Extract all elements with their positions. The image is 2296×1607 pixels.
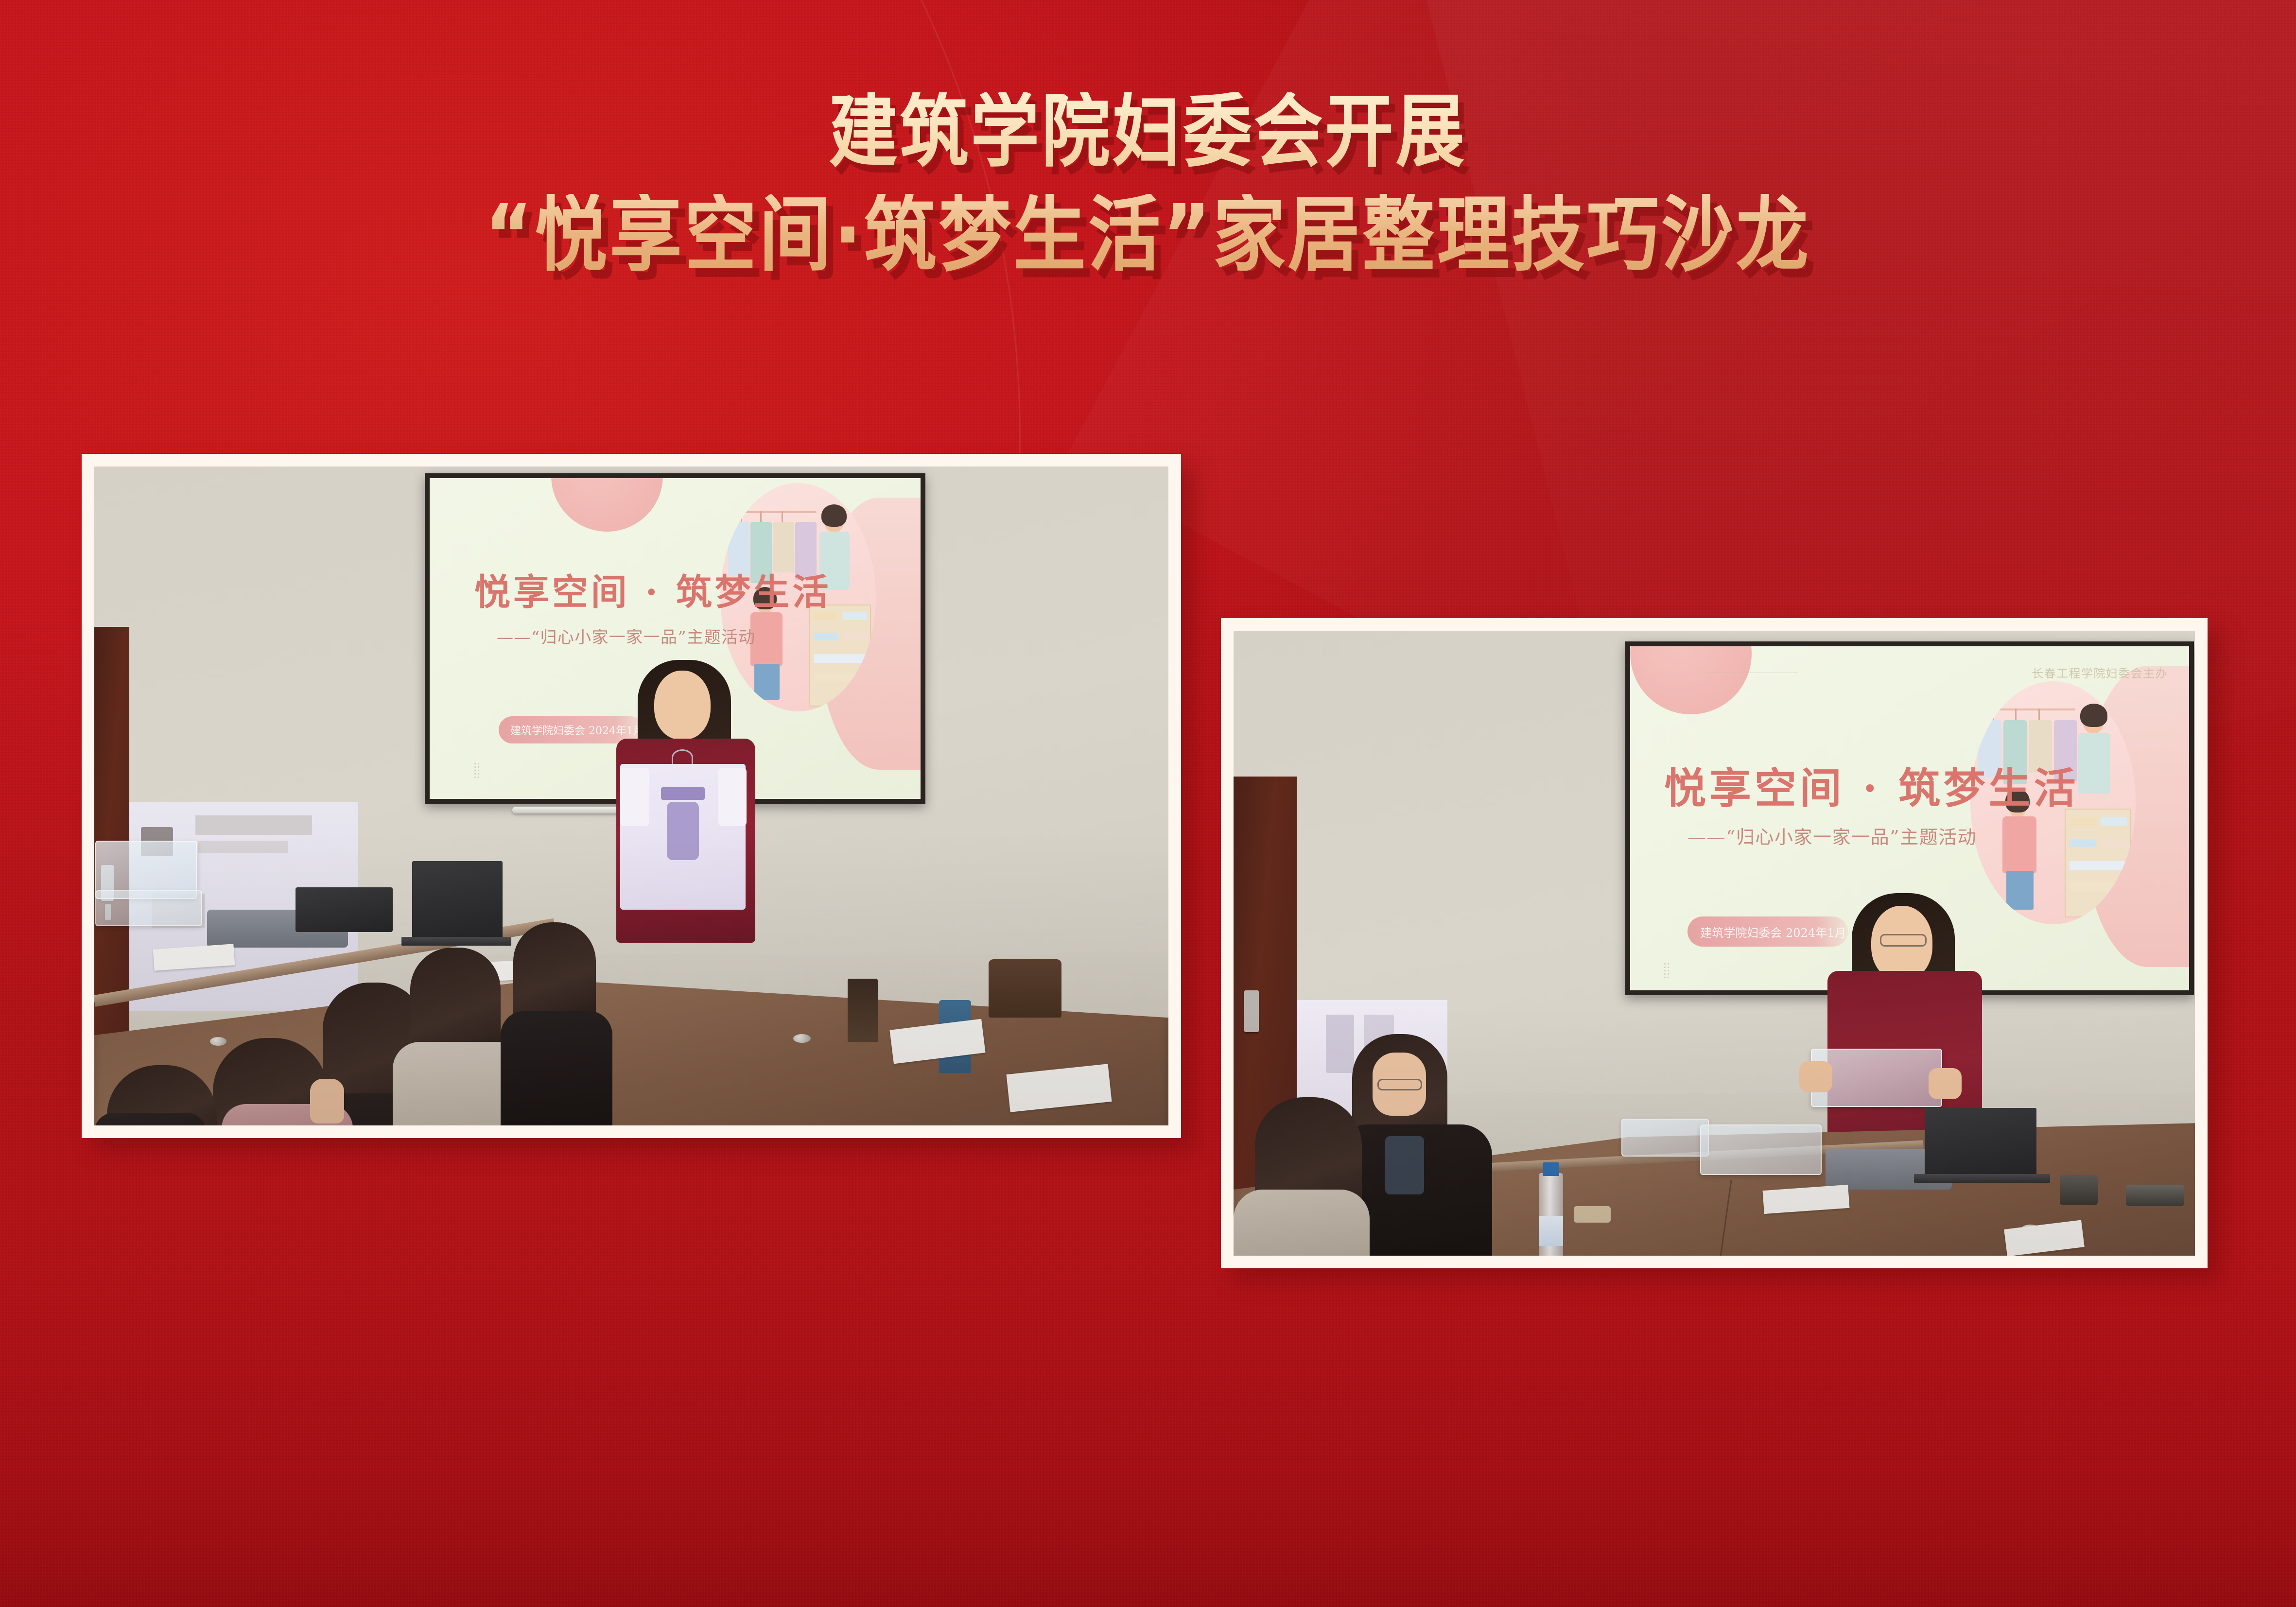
seated-woman-2-sweater (1234, 1190, 1370, 1256)
illustration-rail (729, 511, 817, 513)
small-item-table (1574, 1206, 1611, 1223)
illustration-person-rb-legs (2006, 871, 2034, 910)
illustration-hanger-r1 (1993, 708, 1994, 721)
illustration-fold-4 (843, 633, 867, 640)
slide-subtitle-right: ——“归心小家一家一品”主题活动 (1687, 822, 1977, 849)
device-block (2060, 1175, 2098, 1205)
slide-title-right: 悦享空间 · 筑梦生活 (1664, 754, 2079, 815)
illustration-fold-2 (843, 612, 867, 620)
seated-woman-1-scarf (1385, 1136, 1424, 1194)
storage-box-lower (95, 890, 202, 926)
tshirt-sleeve-left (620, 768, 649, 826)
photo-right-frame: 长春工程学院妇委会主办 (1221, 618, 2208, 1268)
photo-left-image: 悦享空间 · 筑梦生活 ——“归心小家一家一品”主题活动 建筑学院妇委会 202… (94, 467, 1168, 1125)
clear-box-1 (1621, 1119, 1709, 1157)
illustration-person-ra-hair (2080, 704, 2107, 727)
laptop-screen-right2 (1925, 1108, 2036, 1176)
slide-deco-circle (551, 478, 663, 532)
seated-woman-1-glasses (1377, 1079, 1422, 1090)
audience-person-2-hand (310, 1079, 344, 1123)
slide-host-rule (1706, 673, 1798, 673)
photo-right-image: 长春工程学院妇委会主办 (1234, 631, 2195, 1256)
illustration-hanger-r2 (2015, 708, 2017, 721)
presenter-head (654, 671, 711, 740)
illustration-person-b-legs (754, 664, 780, 700)
laptop-base-right (401, 937, 511, 946)
illustration-fold-3 (814, 633, 838, 640)
slide-host-line: 长春工程学院妇委会主办 (2032, 664, 2168, 681)
slide-badge-right-text: 建筑学院妇委会 2024年1月 (1687, 923, 1846, 940)
illustration-hanger-1 (741, 511, 742, 523)
audience-person-5-coat (501, 1011, 612, 1125)
illustration-hanger-3 (782, 511, 783, 523)
illustration-rail-r (1980, 708, 2075, 710)
poster-canvas: 建筑学院妇委会开展 “悦享空间·筑梦生活”家居整理技巧沙龙 (0, 0, 2296, 1607)
presenter-right-hand-left (1799, 1061, 1832, 1092)
board-text-1 (195, 815, 312, 835)
poster-title-line-2: “悦享空间·筑梦生活”家居整理技巧沙龙 (138, 194, 2158, 276)
water-bottle-label-right (1539, 1216, 1563, 1246)
poster-title-line-1: 建筑学院妇委会开展 (161, 92, 2136, 172)
tshirt-sleeve-right (718, 768, 747, 826)
slide-deco-circle-right (1630, 646, 1752, 714)
illustration-fold-r3 (2070, 839, 2096, 847)
illustration-person-rb-body (2002, 816, 2036, 873)
illustration-hanger-r3 (2038, 708, 2040, 721)
water-bottle-cap-right (1543, 1162, 1559, 1176)
spacer (177, 539, 178, 540)
presenter-right-glasses (1880, 934, 1927, 947)
poster-title-block: 建筑学院妇委会开展 “悦享空间·筑梦生活”家居整理技巧沙龙 (0, 92, 2296, 276)
slide-badge-right: 建筑学院妇委会 2024年1月 (1687, 916, 1848, 947)
board-text-2 (198, 841, 288, 853)
clothes-hanger (672, 749, 693, 766)
slide-badge-left-text: 建筑学院妇委会 2024年1月 (499, 722, 644, 738)
laptop-screen-right (412, 861, 503, 939)
clear-box-2 (1700, 1124, 1822, 1175)
door-handle-right (1244, 990, 1259, 1032)
illustration-person-ra-body (2078, 733, 2110, 794)
illustration-fold-r6 (2070, 882, 2127, 892)
illustration-fold-r5 (2070, 861, 2127, 870)
table-grommet-4 (793, 1034, 811, 1043)
audience-person-3-coat (94, 1113, 206, 1125)
table-stand-1 (848, 979, 878, 1042)
chair-wooden (989, 959, 1061, 1018)
presenter-right-hand-right (1929, 1068, 1962, 1099)
illustration-fold-r1 (2070, 817, 2096, 826)
laptop-open (296, 887, 393, 932)
illustration-hanger-2 (760, 511, 762, 523)
tshirt-wordmark (661, 787, 705, 800)
illustration-person-a-hair (821, 504, 847, 527)
table-grommet-1 (210, 1037, 226, 1046)
slide-subtitle-left: ——“归心小家一家一品”主题活动 (497, 624, 756, 648)
laptop-base-right2 (1914, 1174, 2050, 1183)
slide-corner-dots-left (474, 763, 479, 778)
slide-corner-dots-right (1664, 963, 1669, 978)
illustration-fold-r2 (2101, 817, 2127, 826)
tshirt-graphic (667, 802, 699, 860)
illustration-fold-r4 (2101, 839, 2127, 847)
device-block-2 (2126, 1185, 2184, 1206)
wall-panel-char-1 (1326, 1015, 1354, 1073)
slide-title-left: 悦享空间 · 筑梦生活 (474, 563, 831, 615)
photo-left-frame: 悦享空间 · 筑梦生活 ——“归心小家一家一品”主题活动 建筑学院妇委会 202… (82, 454, 1181, 1138)
illustration-fold-5 (814, 654, 867, 663)
illustration-fold-6 (814, 674, 867, 682)
